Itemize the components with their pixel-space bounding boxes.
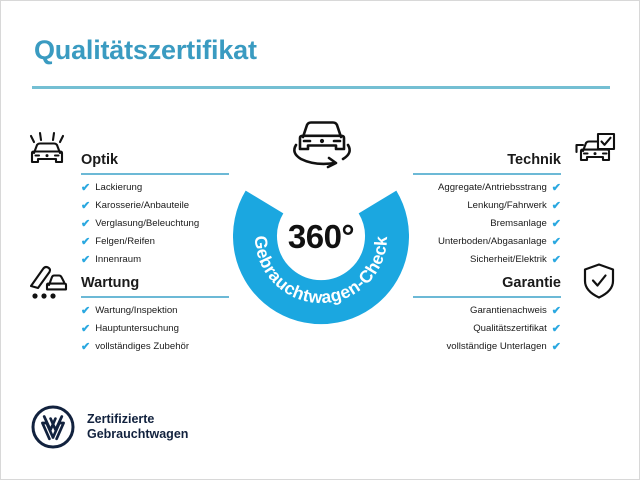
section-technik-divider xyxy=(414,173,561,175)
title-divider xyxy=(32,86,610,89)
checklist-item: ✔Hauptuntersuchung xyxy=(81,320,231,338)
section-garantie-header: Garantie xyxy=(411,267,561,293)
quality-certificate-page: Qualitätszertifikat xyxy=(0,0,640,480)
section-wartung-title: Wartung xyxy=(81,275,139,291)
checklist-item: ✔Felgen/Reifen xyxy=(81,233,231,251)
section-garantie-divider xyxy=(414,296,561,298)
section-wartung-list: ✔Wartung/Inspektion✔Hauptuntersuchung✔vo… xyxy=(81,302,231,356)
section-wartung: Wartung ✔Wartung/Inspektion✔Hauptuntersu… xyxy=(81,267,231,356)
checklist-item-label: Garantienachweis xyxy=(470,302,547,320)
check-icon: ✔ xyxy=(552,219,561,230)
check-icon: ✔ xyxy=(552,342,561,353)
checklist-item-label: Unterboden/Abgasanlage xyxy=(438,233,547,251)
check-icon: ✔ xyxy=(81,183,90,194)
checklist-item: Lenkung/Fahrwerk✔ xyxy=(411,197,561,215)
section-wartung-header: Wartung xyxy=(81,267,231,293)
checklist-item-label: Bremsanlage xyxy=(490,215,547,233)
gebrauchtwagen-check-badge: Gebrauchtwagen-Check 360° xyxy=(233,149,409,325)
checklist-item: ✔Lackierung xyxy=(81,179,231,197)
checklist-item-label: Wartung/Inspektion xyxy=(95,302,177,320)
car-checkbox-icon xyxy=(573,131,617,171)
checklist-item-label: Aggregate/Antriebsstrang xyxy=(438,179,547,197)
checklist-item-label: Qualitätszertifikat xyxy=(473,320,547,338)
checklist-item: ✔vollständiges Zubehör xyxy=(81,338,231,356)
check-icon: ✔ xyxy=(552,324,561,335)
checklist-item-label: Felgen/Reifen xyxy=(95,233,155,251)
section-optik-header: Optik xyxy=(81,144,231,170)
check-icon: ✔ xyxy=(81,342,90,353)
check-icon: ✔ xyxy=(81,201,90,212)
section-optik-list: ✔Lackierung✔Karosserie/Anbauteile✔Vergla… xyxy=(81,179,231,269)
shield-check-icon xyxy=(577,261,621,301)
check-icon: ✔ xyxy=(552,306,561,317)
checklist-item-label: Karosserie/Anbauteile xyxy=(95,197,189,215)
check-icon: ✔ xyxy=(81,255,90,266)
checklist-item: Qualitätszertifikat✔ xyxy=(411,320,561,338)
vw-logo-line2: Gebrauchtwagen xyxy=(87,427,188,441)
car-rotation-icon xyxy=(285,115,359,173)
vw-logo-line1: Zertifizierte xyxy=(87,412,154,426)
checklist-item: ✔Verglasung/Beleuchtung xyxy=(81,215,231,233)
checklist-item: ✔Wartung/Inspektion xyxy=(81,302,231,320)
section-garantie: Garantie Garantienachweis✔Qualitätszerti… xyxy=(411,267,561,356)
section-technik: Technik Aggregate/Antriebsstrang✔Lenkung… xyxy=(411,144,561,269)
section-technik-header: Technik xyxy=(411,144,561,170)
check-icon: ✔ xyxy=(81,219,90,230)
section-optik-divider xyxy=(81,173,228,175)
check-icon: ✔ xyxy=(552,201,561,212)
check-icon: ✔ xyxy=(81,324,90,335)
vw-logo-icon xyxy=(31,405,75,449)
check-icon: ✔ xyxy=(552,255,561,266)
checklist-item-label: vollständige Unterlagen xyxy=(447,338,547,356)
checklist-item-label: Lenkung/Fahrwerk xyxy=(467,197,546,215)
checklist-item-label: Lackierung xyxy=(95,179,142,197)
section-wartung-divider xyxy=(81,296,228,298)
section-technik-list: Aggregate/Antriebsstrang✔Lenkung/Fahrwer… xyxy=(411,179,561,269)
car-shine-icon xyxy=(25,131,69,171)
section-optik-title: Optik xyxy=(81,152,118,168)
wrench-car-icon xyxy=(25,261,69,301)
check-icon: ✔ xyxy=(552,183,561,194)
checklist-item: vollständige Unterlagen✔ xyxy=(411,338,561,356)
page-title: Qualitätszertifikat xyxy=(34,35,257,66)
checklist-item-label: Verglasung/Beleuchtung xyxy=(95,215,199,233)
check-icon: ✔ xyxy=(81,237,90,248)
vw-logo-text: Zertifizierte Gebrauchtwagen xyxy=(87,412,188,442)
checklist-item: ✔Karosserie/Anbauteile xyxy=(81,197,231,215)
check-icon: ✔ xyxy=(552,237,561,248)
section-garantie-title: Garantie xyxy=(502,275,561,291)
section-technik-title: Technik xyxy=(507,152,561,168)
check-icon: ✔ xyxy=(81,306,90,317)
checklist-item: Aggregate/Antriebsstrang✔ xyxy=(411,179,561,197)
checklist-item: Bremsanlage✔ xyxy=(411,215,561,233)
checklist-item-label: vollständiges Zubehör xyxy=(95,338,189,356)
vw-certified-logo: Zertifizierte Gebrauchtwagen xyxy=(31,405,188,449)
checklist-item: Unterboden/Abgasanlage✔ xyxy=(411,233,561,251)
section-garantie-list: Garantienachweis✔Qualitätszertifikat✔vol… xyxy=(411,302,561,356)
section-optik: Optik ✔Lackierung✔Karosserie/Anbauteile✔… xyxy=(81,144,231,269)
checklist-item: Garantienachweis✔ xyxy=(411,302,561,320)
checklist-item-label: Hauptuntersuchung xyxy=(95,320,179,338)
